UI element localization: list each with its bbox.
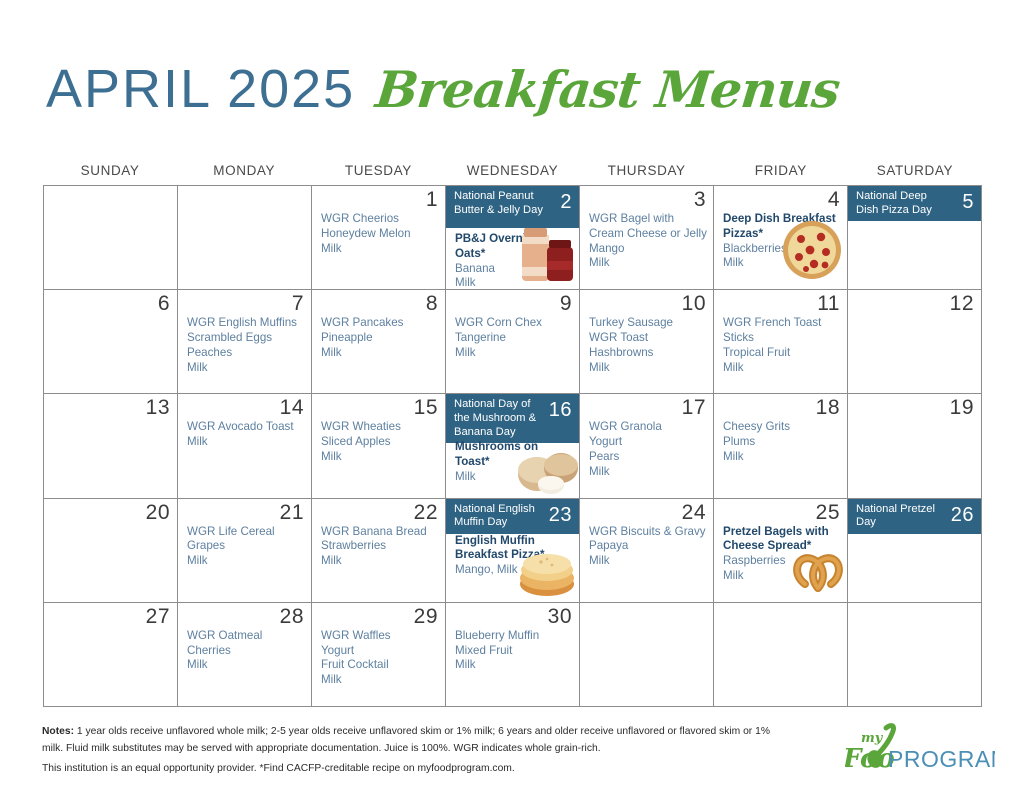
calendar-day-cell[interactable]: National Peanut Butter & Jelly Day2PB&J …	[446, 186, 580, 290]
menu-items: Mushrooms on Toast*Milk	[455, 440, 575, 484]
calendar-day-cell[interactable]: 12	[848, 290, 982, 394]
calendar-day-cell[interactable]: 4Deep Dish Breakfast Pizzas*Blackberries…	[714, 186, 848, 290]
calendar-day-cell[interactable]: 28WGR OatmealCherriesMilk	[178, 603, 312, 707]
day-number: 3	[694, 187, 706, 213]
calendar-day-cell[interactable]: 19	[848, 394, 982, 498]
page-title: APRIL 2025 Breakfast Menus	[46, 58, 836, 120]
day-number: 28	[280, 604, 304, 630]
calendar-day-cell[interactable]: 15WGR WheatiesSliced ApplesMilk	[312, 394, 446, 498]
menu-items: Deep Dish Breakfast Pizzas*BlackberriesM…	[723, 212, 843, 271]
day-number: 12	[950, 291, 974, 317]
calendar-day-cell[interactable]: 20	[44, 499, 178, 603]
menu-items: WGR Bagel withCream Cheese or JellyMango…	[589, 212, 709, 271]
my-food-program-logo: my Foo PROGRAM	[845, 722, 995, 778]
menu-items: Cheesy GritsPlumsMilk	[723, 420, 843, 464]
logo-svg: my Foo PROGRAM	[845, 722, 995, 778]
calendar-empty-cell	[714, 603, 848, 707]
footer-notes: Notes: 1 year olds receive unflavored wh…	[42, 724, 782, 778]
calendar-day-cell[interactable]: 8WGR PancakesPineappleMilk	[312, 290, 446, 394]
day-number: 11	[817, 291, 840, 317]
menu-items: WGR GranolaYogurtPearsMilk	[589, 420, 709, 479]
day-number: 22	[414, 500, 438, 526]
day-number: 2	[560, 190, 572, 215]
menu-items: Blueberry MuffinMixed FruitMilk	[455, 629, 575, 673]
calendar-day-cell[interactable]: 13	[44, 394, 178, 498]
day-number: 10	[682, 291, 706, 317]
menu-items: Pretzel Bagels with Cheese Spread*Raspbe…	[723, 525, 843, 584]
day-number: 7	[292, 291, 304, 317]
calendar-day-cell[interactable]: 3WGR Bagel withCream Cheese or JellyMang…	[580, 186, 714, 290]
calendar-day-cell[interactable]: 27	[44, 603, 178, 707]
day-number: 4	[828, 187, 840, 213]
day-number: 21	[280, 500, 304, 526]
calendar-day-cell[interactable]: National Pretzel Day26	[848, 499, 982, 603]
menu-items: WGR WheatiesSliced ApplesMilk	[321, 420, 441, 464]
day-number: 17	[682, 395, 706, 421]
day-number: 20	[146, 500, 170, 526]
menu-items: WGR Avocado ToastMilk	[187, 420, 307, 450]
notes-label: Notes:	[42, 726, 74, 737]
menu-items: WGR Life CerealGrapesMilk	[187, 525, 307, 569]
weekday-wednesday: WEDNESDAY	[445, 163, 579, 178]
weekday-monday: MONDAY	[177, 163, 311, 178]
calendar-day-cell[interactable]: 6	[44, 290, 178, 394]
day-number: 29	[414, 604, 438, 630]
day-number: 14	[280, 395, 304, 421]
day-number: 23	[549, 503, 572, 528]
menu-items: WGR PancakesPineappleMilk	[321, 316, 441, 360]
menu-items: Turkey SausageWGR ToastHashbrownsMilk	[589, 316, 709, 375]
day-number: 15	[414, 395, 438, 421]
menu-items: WGR Biscuits & GravyPapayaMilk	[589, 525, 709, 569]
menu-items: English Muffin Breakfast Pizza*Mango, Mi…	[455, 534, 575, 578]
day-number: 18	[816, 395, 840, 421]
weekday-thursday: THURSDAY	[580, 163, 714, 178]
calendar-day-cell[interactable]: 10Turkey SausageWGR ToastHashbrownsMilk	[580, 290, 714, 394]
calendar-empty-cell	[44, 186, 178, 290]
menu-items: WGR Banana BreadStrawberriesMilk	[321, 525, 441, 569]
day-number: 8	[426, 291, 438, 317]
weekday-sunday: SUNDAY	[43, 163, 177, 178]
weekday-friday: FRIDAY	[714, 163, 848, 178]
day-number: 13	[146, 395, 170, 421]
weekday-saturday: SATURDAY	[848, 163, 982, 178]
svg-text:PROGRAM: PROGRAM	[888, 746, 995, 772]
calendar-empty-cell	[848, 603, 982, 707]
title-script: Breakfast Menus	[373, 60, 842, 119]
calendar-day-cell[interactable]: 21WGR Life CerealGrapesMilk	[178, 499, 312, 603]
calendar-day-cell[interactable]: National English Muffin Day23English Muf…	[446, 499, 580, 603]
day-number: 19	[950, 395, 974, 421]
calendar-day-cell[interactable]: 25Pretzel Bagels with Cheese Spread*Rasp…	[714, 499, 848, 603]
national-day-banner: National Deep Dish Pizza Day	[848, 186, 981, 221]
calendar-day-cell[interactable]: 18Cheesy GritsPlumsMilk	[714, 394, 848, 498]
day-number: 16	[549, 398, 572, 423]
menu-items: PB&J Overnight Oats*BananaMilk	[455, 232, 575, 290]
national-day-banner: National Peanut Butter & Jelly Day	[446, 186, 579, 228]
calendar-day-cell[interactable]: National Day of the Mushroom & Banana Da…	[446, 394, 580, 498]
calendar-day-cell[interactable]: 14WGR Avocado ToastMilk	[178, 394, 312, 498]
calendar-empty-cell	[178, 186, 312, 290]
calendar-day-cell[interactable]: 7WGR English MuffinsScrambled EggsPeache…	[178, 290, 312, 394]
day-number: 30	[548, 604, 572, 630]
day-number: 26	[951, 503, 974, 528]
day-number: 25	[816, 500, 840, 526]
calendar-day-cell[interactable]: 11WGR French ToastSticksTropical FruitMi…	[714, 290, 848, 394]
day-number: 5	[962, 190, 974, 215]
notes-line-2: This institution is an equal opportunity…	[42, 761, 782, 778]
calendar-grid: 1WGR CheeriosHoneydew MelonMilkNational …	[43, 185, 982, 707]
menu-items: WGR OatmealCherriesMilk	[187, 629, 307, 673]
calendar-page: APRIL 2025 Breakfast Menus SUNDAY MONDAY…	[0, 0, 1024, 791]
menu-items: WGR English MuffinsScrambled EggsPeaches…	[187, 316, 307, 375]
day-number: 1	[426, 187, 438, 213]
calendar-day-cell[interactable]: 24WGR Biscuits & GravyPapayaMilk	[580, 499, 714, 603]
menu-items: WGR Corn ChexTangerineMilk	[455, 316, 575, 360]
day-number: 27	[146, 604, 170, 630]
weekday-header-row: SUNDAY MONDAY TUESDAY WEDNESDAY THURSDAY…	[43, 163, 982, 178]
calendar-day-cell[interactable]: 9WGR Corn ChexTangerineMilk	[446, 290, 580, 394]
calendar-empty-cell	[580, 603, 714, 707]
menu-items: WGR WafflesYogurtFruit CocktailMilk	[321, 629, 441, 688]
day-number: 24	[682, 500, 706, 526]
calendar-day-cell[interactable]: 30Blueberry MuffinMixed FruitMilk	[446, 603, 580, 707]
calendar-day-cell[interactable]: National Deep Dish Pizza Day5	[848, 186, 982, 290]
notes-line-1: 1 year olds receive unflavored whole mil…	[42, 726, 770, 754]
weekday-tuesday: TUESDAY	[311, 163, 445, 178]
calendar-day-cell[interactable]: 1WGR CheeriosHoneydew MelonMilk	[312, 186, 446, 290]
day-number: 6	[158, 291, 170, 317]
calendar-day-cell[interactable]: 29WGR WafflesYogurtFruit CocktailMilk	[312, 603, 446, 707]
calendar-day-cell[interactable]: 17WGR GranolaYogurtPearsMilk	[580, 394, 714, 498]
calendar-day-cell[interactable]: 22WGR Banana BreadStrawberriesMilk	[312, 499, 446, 603]
menu-items: WGR CheeriosHoneydew MelonMilk	[321, 212, 441, 256]
day-number: 9	[560, 291, 572, 317]
title-month: APRIL 2025	[46, 58, 355, 120]
menu-items: WGR French ToastSticksTropical FruitMilk	[723, 316, 843, 375]
